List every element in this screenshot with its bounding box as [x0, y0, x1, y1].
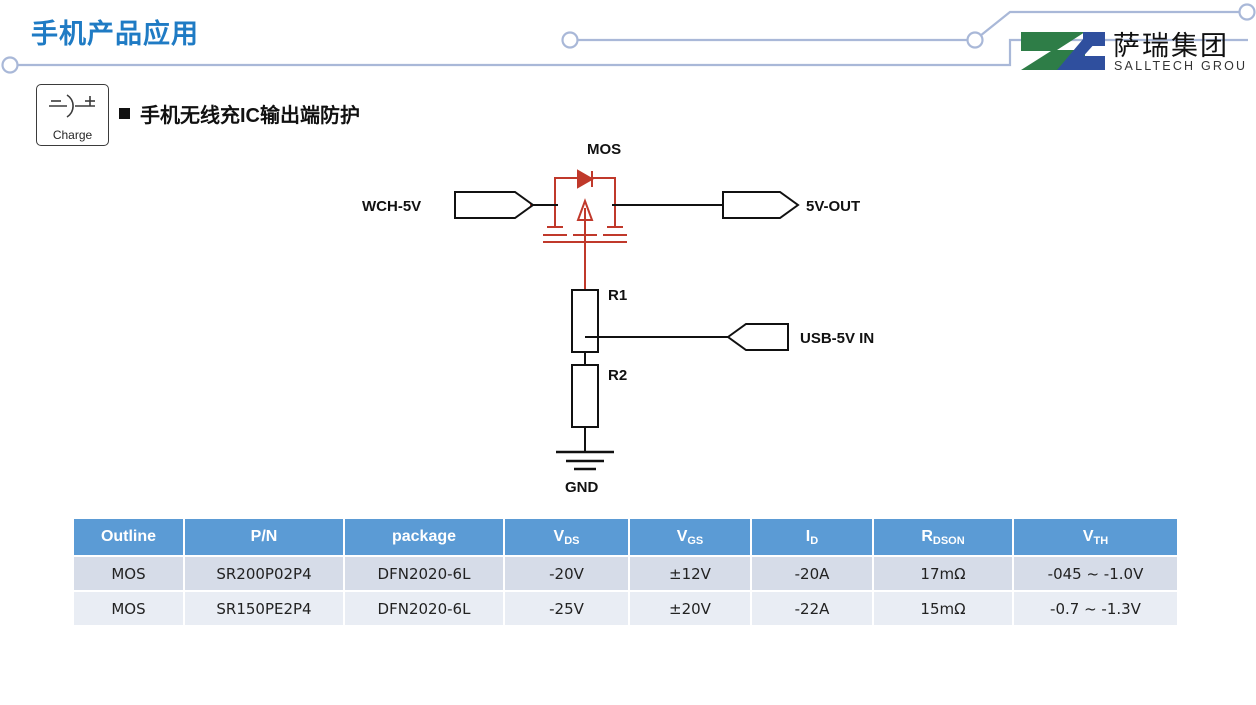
company-logo: 萨瑞集团 SALLTECH GROUP — [1013, 28, 1247, 74]
cell-package: DFN2020-6L — [344, 556, 504, 591]
port-5v-out — [612, 192, 798, 218]
deco-node-right — [968, 33, 983, 48]
table-row: MOS SR200P02P4 DFN2020-6L -20V ±12V -20A… — [74, 556, 1177, 591]
port-usb-5v-in — [585, 324, 788, 350]
col-header-package: package — [344, 519, 504, 556]
header-main: R — [921, 528, 933, 545]
bullet-square-icon — [119, 108, 130, 119]
port-usb-5v-in-label: USB-5V IN — [800, 330, 874, 347]
charge-icon-box: Charge — [36, 84, 109, 146]
ground-symbol — [556, 452, 614, 469]
cell-vds: -20V — [504, 556, 629, 591]
header-sub: GS — [687, 535, 703, 547]
circuit-schematic: MOS WCH-5V 5V-OUT — [340, 130, 920, 510]
col-header-id: ID — [751, 519, 873, 556]
port-wch-5v — [455, 192, 558, 218]
port-wch-5v-label: WCH-5V — [362, 198, 421, 215]
cell-vth: -0.7 ~ -1.3V — [1013, 591, 1177, 625]
col-header-vgs: VGS — [629, 519, 751, 556]
header-sub: D — [810, 535, 818, 547]
resistor-r2-label: R2 — [608, 367, 627, 384]
section-heading-text: 手机无线充IC输出端防护 — [140, 99, 360, 128]
header-main: V — [677, 528, 688, 545]
col-header-outline: Outline — [74, 519, 184, 556]
cell-pn: SR200P02P4 — [184, 556, 344, 591]
charge-icon-label: Charge — [37, 128, 108, 142]
header-sub: DS — [564, 535, 579, 547]
header-sub: TH — [1094, 535, 1109, 547]
page-title: 手机产品应用 — [31, 12, 199, 51]
cell-rdson: 17mΩ — [873, 556, 1013, 591]
header-main: P/N — [251, 528, 278, 545]
cell-package: DFN2020-6L — [344, 591, 504, 625]
mosfet-symbol — [530, 171, 640, 290]
cell-pn: SR150PE2P4 — [184, 591, 344, 625]
cell-vgs: ±20V — [629, 591, 751, 625]
col-header-rdson: RDSON — [873, 519, 1013, 556]
resistor-r2 — [572, 365, 598, 427]
table-row: MOS SR150PE2P4 DFN2020-6L -25V ±20V -22A… — [74, 591, 1177, 625]
table-header-row: Outline P/N package VDS VGS ID RDSON VTH — [74, 519, 1177, 556]
logo-name-en: SALLTECH GROUP — [1114, 59, 1247, 73]
header-main: Outline — [101, 528, 156, 545]
resistor-r1-label: R1 — [608, 287, 627, 304]
mos-label: MOS — [587, 141, 621, 158]
resistor-r1 — [572, 290, 598, 352]
spec-table: Outline P/N package VDS VGS ID RDSON VTH… — [74, 519, 1177, 625]
cell-vgs: ±12V — [629, 556, 751, 591]
cell-outline: MOS — [74, 556, 184, 591]
deco-node-mid — [563, 33, 578, 48]
cell-vds: -25V — [504, 591, 629, 625]
header-main: V — [554, 528, 565, 545]
cell-id: -20A — [751, 556, 873, 591]
node-usb-branch — [585, 336, 720, 380]
header-main: V — [1083, 528, 1094, 545]
deco-node-left — [3, 58, 18, 73]
ground-label: GND — [565, 479, 599, 496]
deco-node-corner — [1240, 5, 1255, 20]
cell-id: -22A — [751, 591, 873, 625]
logo-name-cn: 萨瑞集团 — [1113, 31, 1229, 62]
col-header-vds: VDS — [504, 519, 629, 556]
cell-outline: MOS — [74, 591, 184, 625]
header-main: package — [392, 528, 456, 545]
header-sub: DSON — [933, 535, 965, 547]
section-heading: 手机无线充IC输出端防护 — [119, 99, 360, 128]
cell-rdson: 15mΩ — [873, 591, 1013, 625]
col-header-pn: P/N — [184, 519, 344, 556]
cell-vth: -045 ~ -1.0V — [1013, 556, 1177, 591]
col-header-vth: VTH — [1013, 519, 1177, 556]
port-5v-out-label: 5V-OUT — [806, 198, 860, 215]
